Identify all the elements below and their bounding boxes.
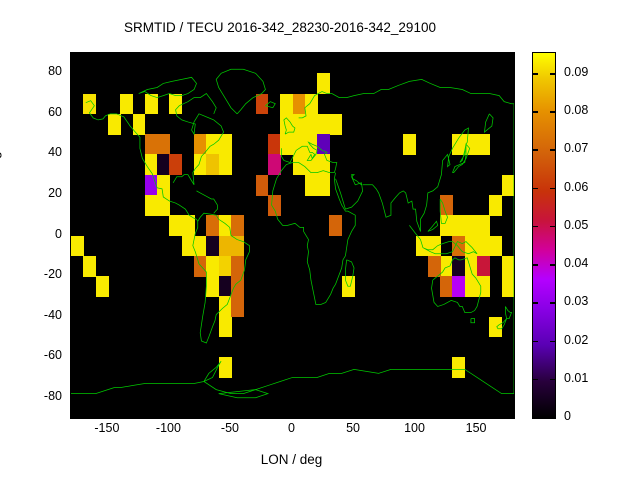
coastline-path <box>471 319 475 323</box>
colorbar-tick-mark <box>533 302 538 304</box>
coastline-path <box>272 142 356 304</box>
colorbar-tick-mark <box>550 188 555 190</box>
y-tick-label: -20 <box>10 267 62 281</box>
coastline-path <box>284 118 295 134</box>
map-plot-area <box>70 52 515 419</box>
colorbar-tick-mark <box>550 341 555 343</box>
colorbar-tick-label: 0.06 <box>564 180 588 194</box>
coastline-path <box>336 175 363 209</box>
coastline-path <box>173 94 223 185</box>
chart-title: SRMTID / TECU 2016-342_28230-2016-342_29… <box>0 20 560 35</box>
colorbar-tick-label: 0.01 <box>564 371 588 385</box>
x-tick-label: 0 <box>257 421 327 435</box>
colorbar-tick-mark <box>533 226 538 228</box>
colorbar-tick-label: 0.02 <box>564 333 588 347</box>
map-canvas <box>71 53 514 418</box>
y-tick-label: 60 <box>10 105 62 119</box>
colorbar-tick-label: 0.09 <box>564 65 588 79</box>
coastline-path <box>216 69 265 114</box>
coastline-overlay <box>71 53 514 418</box>
colorbar-tick-mark <box>550 226 555 228</box>
colorbar-tick-mark <box>533 188 538 190</box>
y-tick-label: 0 <box>10 227 62 241</box>
coastline-path <box>428 221 438 231</box>
x-tick-label: 150 <box>441 421 511 435</box>
y-tick-label: -80 <box>10 389 62 403</box>
colorbar-tick-mark <box>550 73 555 75</box>
colorbar-tick-label: 0 <box>564 409 571 423</box>
colorbar-tick-mark <box>533 379 538 381</box>
coastline-path <box>299 79 514 118</box>
colorbar-gradient <box>533 53 555 418</box>
coastline-path <box>440 199 447 223</box>
x-tick-label: -150 <box>72 421 142 435</box>
coastline-path <box>197 191 218 213</box>
x-axis-label: LON / deg <box>0 452 583 467</box>
y-tick-label: 80 <box>10 64 62 78</box>
colorbar-tick-mark <box>533 341 538 343</box>
coastline-path <box>505 306 511 318</box>
colorbar-tick-mark <box>533 111 538 113</box>
colorbar-tick-mark <box>533 73 538 75</box>
colorbar-tick-label: 0.03 <box>564 294 588 308</box>
coastline-path <box>497 319 507 329</box>
colorbar-tick-label: 0.08 <box>564 103 588 117</box>
coastline-path <box>193 213 250 343</box>
coastline-path <box>86 101 198 222</box>
coastline-path <box>265 102 275 108</box>
y-tick-label: -40 <box>10 308 62 322</box>
colorbar-tick-mark <box>550 149 555 151</box>
coastline-path <box>432 258 481 313</box>
colorbar-tick-label: 0.05 <box>564 218 588 232</box>
coastline-path <box>363 128 469 231</box>
colorbar-tick-mark <box>550 111 555 113</box>
colorbar-tick-label: 0.07 <box>564 141 588 155</box>
colorbar-tick-mark <box>550 264 555 266</box>
x-tick-label: -100 <box>133 421 203 435</box>
y-tick-label: -60 <box>10 348 62 362</box>
x-tick-label: -50 <box>195 421 265 435</box>
y-tick-label: 40 <box>10 145 62 159</box>
plot-root: SRMTID / TECU 2016-342_28230-2016-342_29… <box>0 0 640 480</box>
coastline-path <box>484 114 493 132</box>
coastline-path <box>345 260 354 286</box>
y-axis-label: LAT / deg <box>0 120 2 240</box>
colorbar-tick-mark <box>533 264 538 266</box>
colorbar <box>532 52 556 419</box>
colorbar-tick-mark <box>533 149 538 151</box>
coastline-path <box>452 144 469 172</box>
coastline-path <box>71 361 514 393</box>
y-tick-label: 20 <box>10 186 62 200</box>
colorbar-tick-label: 0.04 <box>564 256 588 270</box>
colorbar-tick-mark <box>550 379 555 381</box>
x-tick-label: 100 <box>380 421 450 435</box>
x-tick-label: 50 <box>318 421 388 435</box>
coastline-path <box>139 77 197 97</box>
colorbar-tick-mark <box>550 302 555 304</box>
